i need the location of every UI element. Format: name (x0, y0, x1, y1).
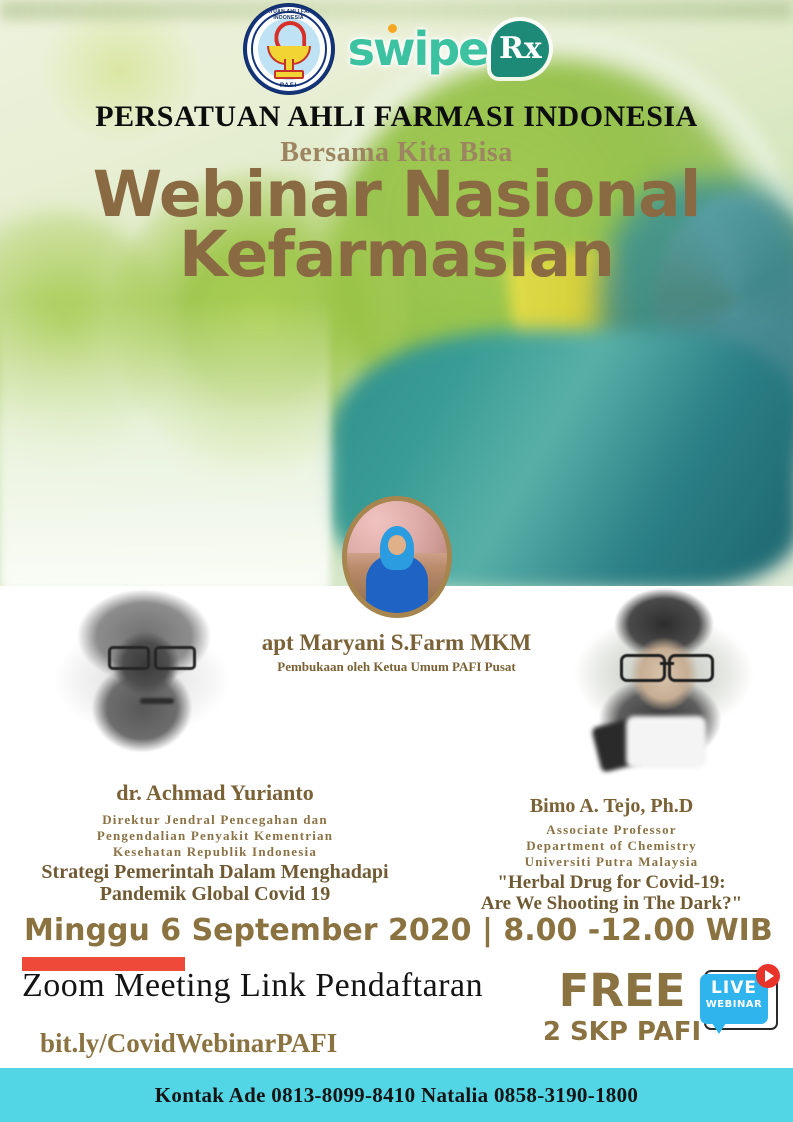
bowl-base (274, 70, 304, 79)
event-platform: Zoom Meeting Link Pendaftaran (22, 967, 483, 1005)
speaker-left-topic-line-2: Pandemik Global Covid 19 (0, 883, 430, 905)
speaker-right-affiliation-line-1: Associate Professor (430, 822, 793, 838)
pafi-logo-bottom-text: PAFI (247, 83, 331, 89)
speaker-photo-left (24, 588, 260, 768)
swipe-dot-icon (388, 24, 397, 33)
speaker-photo-right (556, 588, 776, 768)
speaker-right-affiliation: Associate Professor Department of Chemis… (430, 822, 793, 870)
price-label: FREE (542, 968, 702, 1013)
speaker-right-affiliation-line-2: Department of Chemistry (430, 838, 793, 854)
event-datetime: Minggu 6 September 2020 | 8.00 -12.00 WI… (24, 913, 773, 948)
speaker-left-affiliation-line-3: Kesehatan Republik Indonesia (0, 844, 430, 860)
webinar-poster: PERSATUAN AHLI FARMASI INDONESIA PAFI sw… (0, 0, 793, 1122)
swipe-wordmark: swipe (348, 26, 488, 72)
rx-label: Rx (499, 34, 542, 64)
speaker-right-topic-line-2: Are We Shooting in The Dark?" (430, 893, 793, 914)
registration-link[interactable]: bit.ly/CovidWebinarPAFI (40, 1028, 337, 1059)
swiperx-logo: swipe Rx (348, 21, 550, 77)
glasses-icon-left (108, 646, 196, 664)
pafi-logo-icon: PERSATUAN AHLI FARMASI INDONESIA PAFI (244, 4, 334, 94)
price-badge: FREE 2 SKP PAFI (542, 968, 702, 1047)
play-triangle (765, 970, 774, 982)
live-webinar-badge: LIVE WEBINAR (700, 968, 778, 1040)
live-badge-webinar-text: WEBINAR (700, 1000, 768, 1010)
play-icon (756, 964, 780, 988)
speaker-right-affiliation-line-3: Universiti Putra Malaysia (430, 854, 793, 870)
speaker-left-mouth (140, 698, 174, 704)
contact-text: Kontak Ade 0813-8099-8410 Natalia 0858-3… (155, 1083, 638, 1108)
speaker-left-affiliation-line-1: Direktur Jendral Pencegahan dan (0, 812, 430, 828)
speaker-right-topic-line-1: "Herbal Drug for Covid-19: (430, 872, 793, 893)
glasses-bridge (660, 662, 674, 665)
speaker-right-shirt (626, 716, 706, 768)
speaker-left-affiliation-line-2: Pengendalian Penyakit Kementrian (0, 828, 430, 844)
speaker-left-name: dr. Achmad Yurianto (0, 780, 430, 806)
rx-bubble-icon: Rx (491, 21, 549, 77)
speaker-info-right: Bimo A. Tejo, Ph.D Associate Professor D… (430, 795, 793, 914)
avatar-face (388, 535, 406, 555)
speaker-right-topic: "Herbal Drug for Covid-19: Are We Shooti… (430, 872, 793, 915)
speaker-left-topic-line-1: Strategi Pemerintah Dalam Menghadapi (0, 861, 430, 883)
swipe-wordmark-text: swipe (348, 22, 488, 76)
speaker-info-left: dr. Achmad Yurianto Direktur Jendral Pen… (0, 780, 430, 905)
contact-footer: Kontak Ade 0813-8099-8410 Natalia 0858-3… (0, 1068, 793, 1122)
speaker-right-name: Bimo A. Tejo, Ph.D (430, 795, 793, 818)
glasses-icon-right (620, 654, 714, 676)
page-title: Webinar Nasional Kefarmasian (0, 165, 793, 285)
logo-row: PERSATUAN AHLI FARMASI INDONESIA PAFI sw… (0, 6, 793, 92)
credits-label: 2 SKP PAFI (542, 1017, 702, 1047)
pafi-logo-top-text: PERSATUAN AHLI FARMASI INDONESIA (247, 9, 331, 21)
speaker-left-affiliation: Direktur Jendral Pencegahan dan Pengenda… (0, 812, 430, 860)
title-line-2: Kefarmasian (0, 225, 793, 285)
avatar (342, 496, 452, 618)
speaker-left-topic: Strategi Pemerintah Dalam Menghadapi Pan… (0, 861, 430, 906)
organization-title: PERSATUAN AHLI FARMASI INDONESIA (0, 100, 793, 134)
